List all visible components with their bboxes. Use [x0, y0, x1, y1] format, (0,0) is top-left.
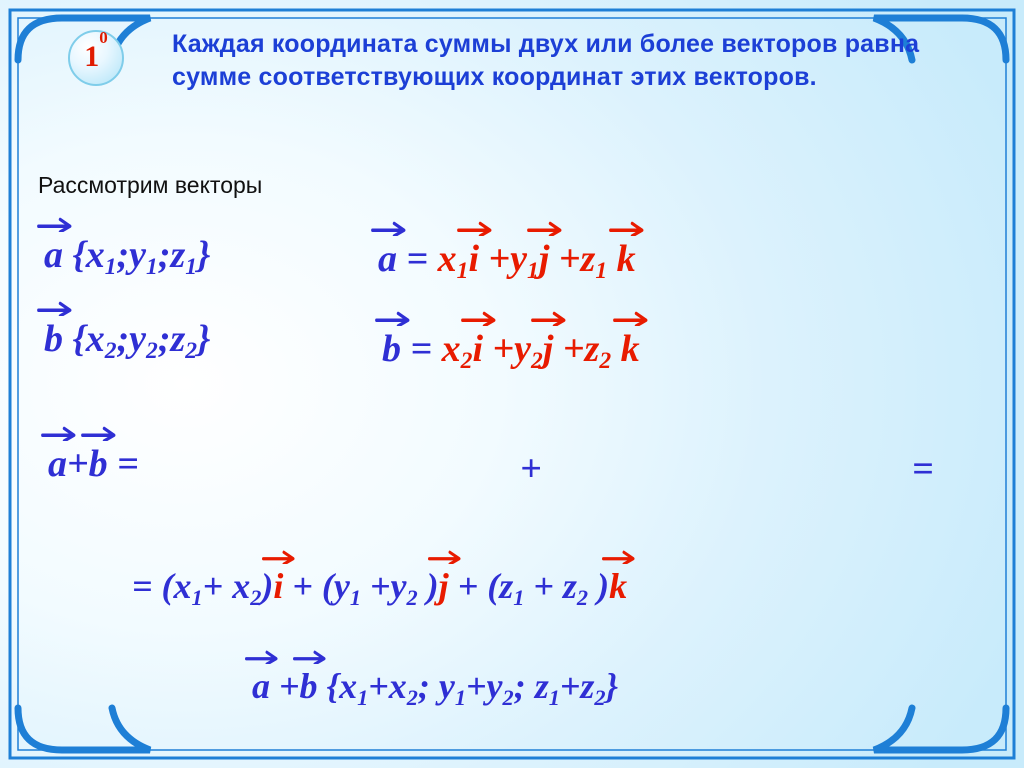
- vector-b-symbol: b: [382, 330, 401, 368]
- arrow-icon: [460, 310, 496, 326]
- unit-vector-j: j: [539, 240, 550, 278]
- slide-canvas: 10 Каждая координата суммы двух или боле…: [0, 0, 1024, 768]
- vector-a-symbol: a: [48, 445, 67, 483]
- slide-title: Каждая координата суммы двух или более в…: [172, 28, 932, 93]
- sum-equals-operator: =: [912, 450, 934, 488]
- unit-vector-j: j: [543, 330, 554, 368]
- vector-a-symbol: a: [378, 240, 397, 278]
- arrow-icon: [613, 310, 649, 326]
- arrow-icon: [609, 220, 645, 236]
- vector-b-symbol: b: [300, 668, 318, 704]
- vector-b-decomposition: b = x2i +y2j +z2 k: [382, 330, 640, 368]
- vector-a-symbol: a: [44, 236, 63, 274]
- sum-expression-left: a +b =: [48, 445, 139, 483]
- vector-b-symbol: b: [89, 445, 108, 483]
- sum-plus-operator: +: [520, 450, 542, 488]
- slide-number-badge: 10: [68, 30, 124, 86]
- vector-a-coordinates: a {x1;y1;z1}: [44, 236, 210, 274]
- badge-number: 10: [84, 41, 108, 72]
- arrow-icon: [527, 220, 563, 236]
- unit-vector-k: k: [621, 330, 640, 368]
- arrow-icon: [531, 310, 567, 326]
- arrow-icon: [262, 549, 296, 564]
- unit-vector-k: k: [617, 240, 636, 278]
- arrow-icon: [81, 425, 117, 441]
- unit-vector-k: k: [609, 568, 627, 604]
- vector-b-coordinates: b {x2;y2;z2}: [44, 320, 210, 358]
- arrow-icon: [427, 549, 461, 564]
- decorative-frame: [0, 0, 1024, 768]
- arrow-icon: [36, 300, 72, 316]
- arrow-icon: [456, 220, 492, 236]
- unit-vector-i: i: [468, 240, 479, 278]
- final-expression: a +b {x1+x2; y1+y2; z1+z2}: [252, 668, 618, 704]
- arrow-icon: [374, 310, 410, 326]
- unit-vector-i: i: [273, 568, 283, 604]
- vector-b-symbol: b: [44, 320, 63, 358]
- arrow-icon: [370, 220, 406, 236]
- subtitle-text: Рассмотрим векторы: [38, 172, 262, 199]
- result-expression: = (x1+ x2)i + (y1 +y2 )j + (z1 + z2 )k: [132, 568, 627, 604]
- vector-a-symbol: a: [252, 668, 270, 704]
- unit-vector-i: i: [472, 330, 483, 368]
- arrow-icon: [292, 649, 326, 664]
- arrow-icon: [245, 649, 279, 664]
- arrow-icon: [40, 425, 76, 441]
- unit-vector-j: j: [439, 568, 449, 604]
- vector-a-decomposition: a = x1i +y1j +z1 k: [378, 240, 636, 278]
- arrow-icon: [602, 549, 636, 564]
- arrow-icon: [36, 216, 72, 232]
